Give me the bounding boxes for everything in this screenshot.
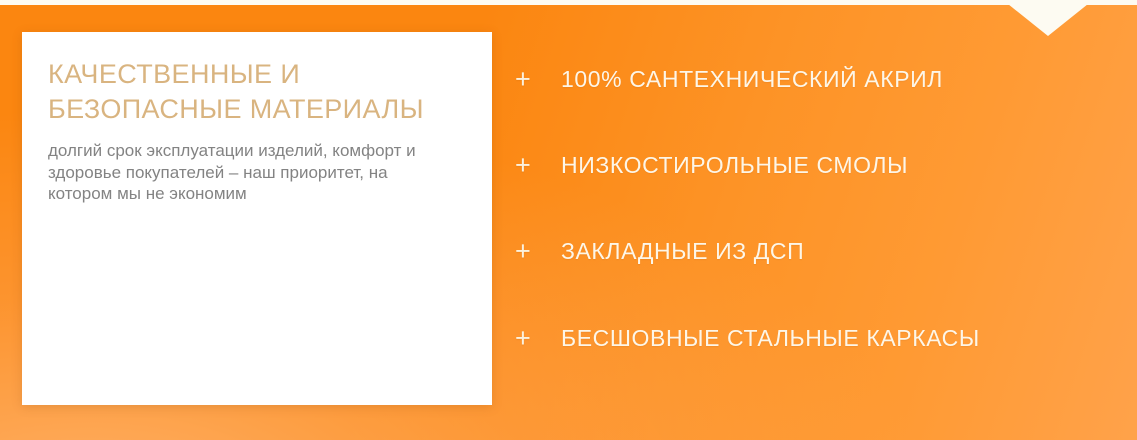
feature-list-item: + 100% САНТЕХНИЧЕСКИЙ АКРИЛ bbox=[515, 62, 943, 96]
feature-label: ЗАКЛАДНЫЕ ИЗ ДСП bbox=[561, 240, 804, 263]
promo-banner: КАЧЕСТВЕННЫЕ И БЕЗОПАСНЫЕ МАТЕРИАЛЫ долг… bbox=[0, 0, 1137, 440]
feature-label: 100% САНТЕХНИЧЕСКИЙ АКРИЛ bbox=[561, 68, 943, 91]
info-card: КАЧЕСТВЕННЫЕ И БЕЗОПАСНЫЕ МАТЕРИАЛЫ долг… bbox=[22, 32, 492, 405]
card-body-text: долгий срок эксплуатации изделий, комфор… bbox=[48, 140, 448, 204]
feature-list-item: + НИЗКОСТИРОЛЬНЫЕ СМОЛЫ bbox=[515, 148, 908, 182]
top-edge-strip bbox=[0, 0, 1137, 5]
feature-label: БЕСШОВНЫЕ СТАЛЬНЫЕ КАРКАСЫ bbox=[561, 327, 980, 350]
chevron-notch-icon bbox=[1003, 0, 1093, 36]
feature-list-item: + БЕСШОВНЫЕ СТАЛЬНЫЕ КАРКАСЫ bbox=[515, 321, 980, 355]
plus-icon: + bbox=[515, 325, 541, 352]
feature-list-item: + ЗАКЛАДНЫЕ ИЗ ДСП bbox=[515, 234, 804, 268]
card-heading: КАЧЕСТВЕННЫЕ И БЕЗОПАСНЫЕ МАТЕРИАЛЫ bbox=[48, 57, 462, 126]
plus-icon: + bbox=[515, 152, 541, 179]
plus-icon: + bbox=[515, 66, 541, 93]
feature-list: + 100% САНТЕХНИЧЕСКИЙ АКРИЛ + НИЗКОСТИРО… bbox=[515, 32, 1125, 405]
feature-label: НИЗКОСТИРОЛЬНЫЕ СМОЛЫ bbox=[561, 154, 908, 177]
plus-icon: + bbox=[515, 238, 541, 265]
